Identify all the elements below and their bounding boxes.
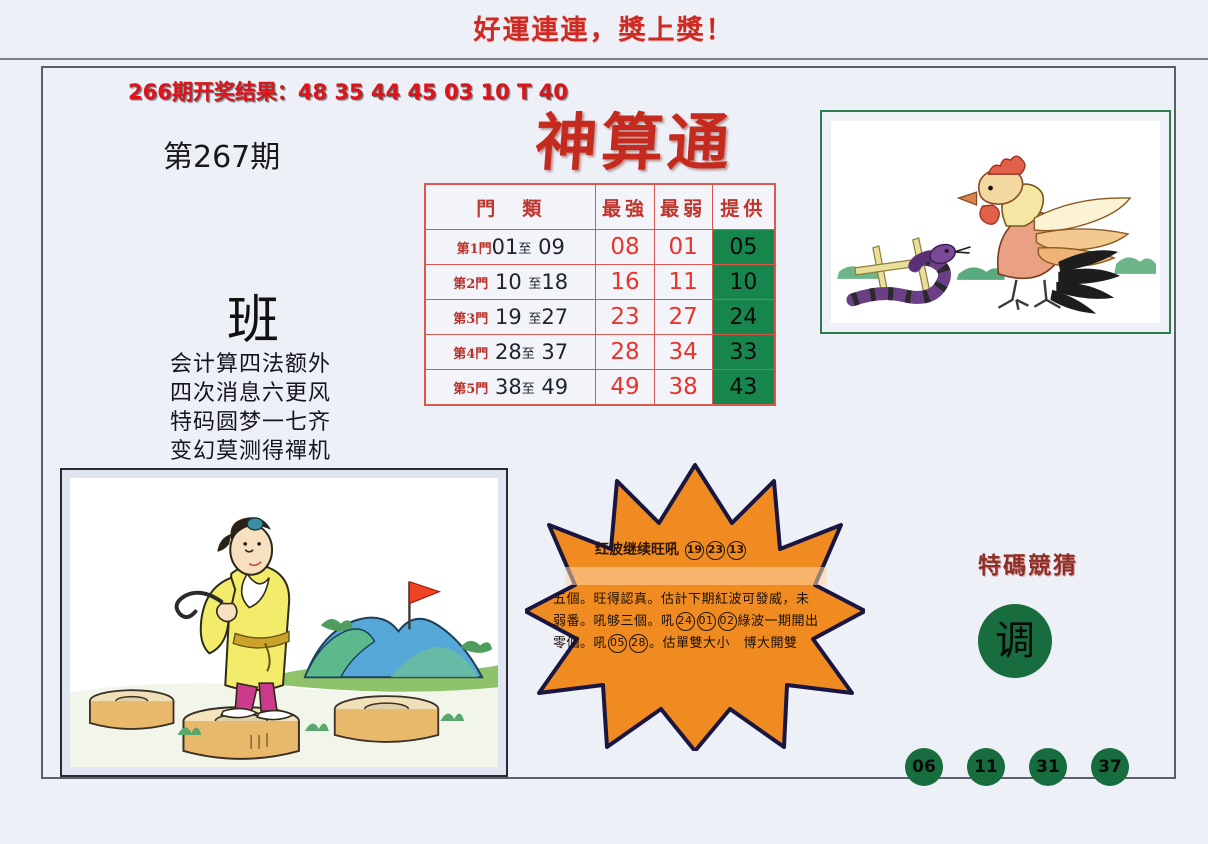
prediction-table: 門 類 最強 最弱 提供 第1門01至 09 08 01 05 第2門 10 至…	[424, 183, 776, 406]
poem-line: 特码圆梦一七齐	[143, 408, 358, 437]
scholar-illustration	[70, 478, 498, 767]
inline-ball: 05	[608, 634, 627, 653]
guess-number-ball: 31	[1029, 748, 1067, 786]
big-character: 班	[148, 278, 358, 353]
poem-line: 变幻莫测得禪机	[143, 437, 358, 466]
cell-strongest: 08	[596, 230, 654, 265]
cell-weakest: 01	[654, 230, 712, 265]
cell-weakest: 38	[654, 370, 712, 406]
headline-ball: 23	[706, 541, 725, 560]
range-to: 37	[541, 340, 568, 364]
table-row: 第1門01至 09 08 01 05	[425, 230, 775, 265]
table-row: 第3門 19 至27 23 27 24	[425, 300, 775, 335]
previous-draw-result: 266期开奖结果：48 35 44 45 03 10 T 40	[128, 76, 568, 106]
guess-number-ball: 37	[1091, 748, 1129, 786]
starburst-headline: 红波继续旺吼 192313	[595, 539, 747, 560]
range-from: 28	[495, 340, 522, 364]
range-sep: 至	[528, 277, 541, 292]
cell-strongest: 16	[596, 265, 654, 300]
range-to: 49	[541, 375, 568, 399]
rooster-snake-illustration	[831, 121, 1160, 323]
guess-section-title: 特碼競猜	[940, 546, 1116, 580]
range-to: 18	[541, 270, 568, 294]
cell-provide: 10	[712, 265, 775, 300]
issue-number: 第267期	[163, 132, 280, 176]
range-sep: 至	[522, 382, 535, 397]
starburst-body: 五個。旺得認真。估計下期紅波可發威，未 弱番。吼够三個。吼240102綠波一期開…	[553, 589, 843, 655]
inline-ball: 02	[718, 612, 737, 631]
starburst-line: 五個。旺得認真。估計下期紅波可發威，未	[553, 589, 843, 611]
range-from: 10	[495, 270, 522, 294]
table-row: 第2門 10 至18 16 11 10	[425, 265, 775, 300]
cell-weakest: 11	[654, 265, 712, 300]
headline-ball: 13	[727, 541, 746, 560]
range-from: 01	[492, 235, 519, 259]
cell-strongest: 28	[596, 335, 654, 370]
range-sep: 至	[522, 347, 535, 362]
scholar-image-frame	[60, 468, 508, 777]
scholar-on-stump-icon	[70, 478, 498, 767]
cell-range: 第4門 28至 37	[425, 335, 596, 370]
gate-label: 第3門	[453, 312, 488, 327]
guess-number-ball: 06	[905, 748, 943, 786]
range-to: 27	[541, 305, 568, 329]
cell-weakest: 34	[654, 335, 712, 370]
starburst-line-post: 綠波一期開出	[738, 614, 819, 629]
page-root: 好運連連，獎上獎！ 266期开奖结果：48 35 44 45 03 10 T 4…	[0, 0, 1208, 844]
column-header-weakest: 最弱	[654, 184, 712, 230]
range-from: 19	[495, 305, 522, 329]
column-header-category: 門 類	[425, 184, 596, 230]
column-header-provide: 提供	[712, 184, 775, 230]
rooster-snake-icon	[831, 121, 1160, 323]
starburst-line: 弱番。吼够三個。吼240102綠波一期開出	[553, 611, 843, 633]
starburst-line-pre: 五個。旺得認真。估計下期紅波可發威，未	[553, 592, 810, 607]
cell-range: 第2門 10 至18	[425, 265, 596, 300]
site-logo: 神算通	[533, 92, 799, 172]
table-row: 第4門 28至 37 28 34 33	[425, 335, 775, 370]
cell-strongest: 49	[596, 370, 654, 406]
poem-block: 会计算四法额外 四次消息六更风 特码圆梦一七齐 变幻莫测得禪机	[143, 350, 358, 466]
top-banner: 好運連連，獎上獎！	[0, 8, 1208, 52]
cell-range: 第5門 38至 49	[425, 370, 596, 406]
starburst-line: 零個。吼0528。估單雙大小 博大開雙	[553, 633, 843, 655]
guess-number-list: 06 11 31 37	[905, 748, 1135, 790]
table-header-row: 門 類 最強 最弱 提供	[425, 184, 775, 230]
gate-label: 第4門	[453, 347, 488, 362]
cell-weakest: 27	[654, 300, 712, 335]
range-from: 38	[495, 375, 522, 399]
rooster-snake-image-frame	[820, 110, 1171, 334]
starburst-headline-text: 红波继续旺吼	[595, 542, 679, 558]
header-divider	[0, 58, 1208, 60]
range-sep: 至	[528, 312, 541, 327]
starburst-line-pre: 零個。吼	[553, 636, 607, 651]
guess-number-ball: 11	[967, 748, 1005, 786]
gate-label: 第1門	[457, 242, 492, 257]
cell-provide: 05	[712, 230, 775, 265]
inline-ball: 28	[629, 634, 648, 653]
starburst-line-post: 。估單雙大小 博大開雙	[649, 636, 798, 651]
column-header-strongest: 最強	[596, 184, 654, 230]
poem-line: 四次消息六更风	[143, 379, 358, 408]
table-row: 第5門 38至 49 49 38 43	[425, 370, 775, 406]
inline-ball: 24	[676, 612, 695, 631]
cell-provide: 43	[712, 370, 775, 406]
starburst-line-pre: 弱番。吼够三個。吼	[553, 614, 675, 629]
poem-line: 会计算四法额外	[143, 350, 358, 379]
guess-main-ball: 调	[978, 604, 1052, 678]
starburst-callout: 红波继续旺吼 192313 五個。旺得認真。估計下期紅波可發威，未 弱番。吼够三…	[525, 461, 865, 751]
cell-provide: 24	[712, 300, 775, 335]
gate-label: 第5門	[453, 382, 488, 397]
starburst-text: 红波继续旺吼 192313 五個。旺得認真。估計下期紅波可發威，未 弱番。吼够三…	[525, 461, 865, 751]
cell-range: 第1門01至 09	[425, 230, 596, 265]
cell-strongest: 23	[596, 300, 654, 335]
headline-ball: 19	[685, 541, 704, 560]
cell-provide: 33	[712, 335, 775, 370]
range-to: 09	[538, 235, 565, 259]
inline-ball: 01	[697, 612, 716, 631]
gate-label: 第2門	[453, 277, 488, 292]
cell-range: 第3門 19 至27	[425, 300, 596, 335]
banner-slogan: 好運連連，獎上獎！	[474, 15, 735, 46]
range-sep: 至	[518, 242, 531, 257]
